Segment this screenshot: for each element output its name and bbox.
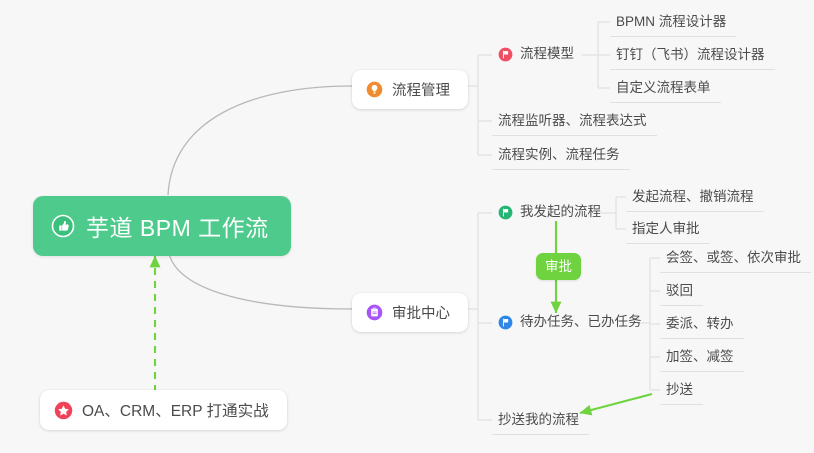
leaf-assignee-approval[interactable]: 指定人审批: [626, 217, 710, 244]
root-label: 芋道 BPM 工作流: [86, 209, 269, 243]
leaf-reject-label: 驳回: [666, 282, 693, 300]
leaf-bpmn-designer-label: BPMN 流程设计器: [616, 13, 726, 31]
node-todo-done-tasks[interactable]: 待办任务、已办任务: [492, 310, 652, 336]
lightbulb-icon: [366, 81, 383, 98]
branch-approval-center-label: 审批中心: [392, 302, 450, 323]
flag-icon: [498, 205, 513, 220]
leaf-countersign-label: 会签、或签、依次审批: [666, 249, 801, 267]
leaf-cc-label: 抄送: [666, 381, 693, 399]
leaf-process-listener[interactable]: 流程监听器、流程表达式: [492, 109, 657, 136]
approve-callout-badge[interactable]: 审批: [536, 253, 581, 280]
thumbs-up-icon: [51, 214, 75, 238]
node-process-model[interactable]: 流程模型: [492, 42, 584, 68]
leaf-add-remove-sign[interactable]: 加签、减签: [660, 345, 744, 372]
leaf-custom-form[interactable]: 自定义流程表单: [610, 76, 721, 103]
node-my-started-processes[interactable]: 我发起的流程: [492, 200, 611, 226]
leaf-delegate-transfer[interactable]: 委派、转办: [660, 312, 744, 339]
branch-process-management-label: 流程管理: [392, 79, 450, 100]
leaf-cc-my-process[interactable]: 抄送我的流程: [492, 408, 589, 435]
branch-process-management[interactable]: 流程管理: [352, 70, 468, 109]
leaf-dingtalk-designer[interactable]: 钉钉（飞书）流程设计器: [610, 43, 775, 70]
trunk-to-approval-center: [168, 248, 352, 309]
mindmap-canvas: 芋道 BPM 工作流 流程管理 流程模型 BPMN 流程设计器 钉钉（飞书）流程: [0, 0, 814, 453]
leaf-custom-form-label: 自定义流程表单: [616, 79, 711, 97]
leaf-assignee-approval-label: 指定人审批: [632, 220, 700, 238]
leaf-add-remove-sign-label: 加签、减签: [666, 348, 734, 366]
root-node[interactable]: 芋道 BPM 工作流: [33, 196, 291, 256]
clipboard-icon: [366, 304, 383, 321]
node-my-started-processes-label: 我发起的流程: [520, 203, 601, 221]
leaf-process-instance[interactable]: 流程实例、流程任务: [492, 143, 630, 170]
leaf-reject[interactable]: 驳回: [660, 279, 703, 306]
branch-approval-center[interactable]: 审批中心: [352, 293, 468, 332]
arrow-cc-to-ccmy: [580, 394, 652, 413]
star-icon: [54, 401, 73, 420]
node-todo-done-tasks-label: 待办任务、已办任务: [520, 313, 642, 331]
trunk-to-process-management: [168, 86, 352, 195]
flag-icon: [498, 47, 513, 62]
leaf-dingtalk-designer-label: 钉钉（飞书）流程设计器: [616, 46, 765, 64]
node-process-model-label: 流程模型: [520, 45, 574, 63]
leaf-process-instance-label: 流程实例、流程任务: [498, 146, 620, 164]
flag-icon: [498, 315, 513, 330]
leaf-delegate-transfer-label: 委派、转办: [666, 315, 734, 333]
integration-node-label: OA、CRM、ERP 打通实战: [82, 399, 269, 421]
leaf-process-listener-label: 流程监听器、流程表达式: [498, 112, 647, 130]
leaf-cc[interactable]: 抄送: [660, 378, 703, 405]
integration-node[interactable]: OA、CRM、ERP 打通实战: [40, 390, 287, 430]
leaf-countersign[interactable]: 会签、或签、依次审批: [660, 246, 811, 273]
leaf-bpmn-designer[interactable]: BPMN 流程设计器: [610, 10, 736, 37]
leaf-start-cancel-process[interactable]: 发起流程、撤销流程: [626, 185, 764, 212]
leaf-start-cancel-process-label: 发起流程、撤销流程: [632, 188, 754, 206]
leaf-cc-my-process-label: 抄送我的流程: [498, 411, 579, 429]
